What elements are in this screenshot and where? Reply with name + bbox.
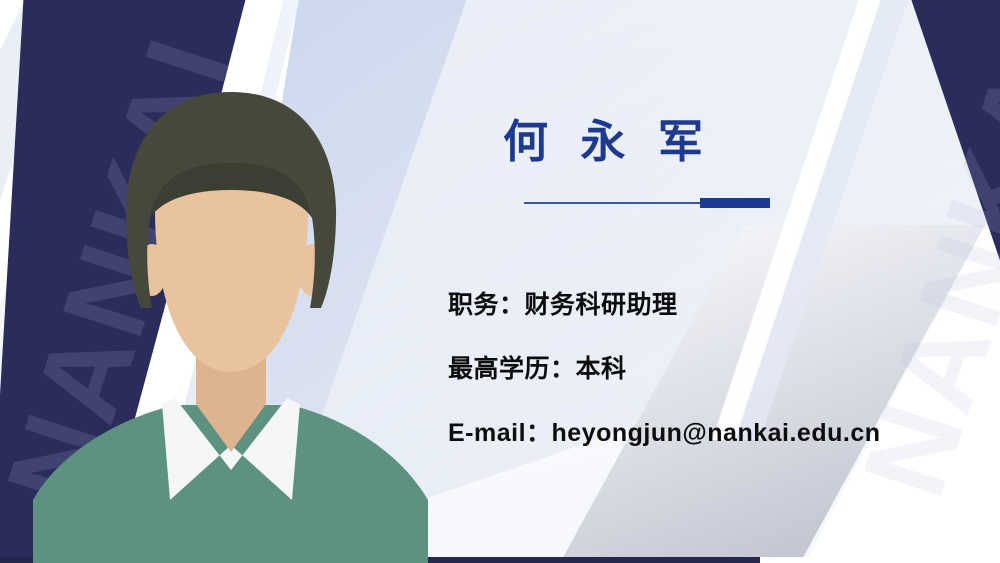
- detail-email: E-mail：heyongjun@nankai.edu.cn: [448, 413, 881, 449]
- detail-position: 职务：财务科研助理: [448, 285, 881, 321]
- avatar: [0, 0, 460, 563]
- bottom-strip-gap-right: [760, 557, 1000, 563]
- divider-thick-bar: [700, 198, 770, 208]
- profile-slide: NANKAI NANKAI 何 永 军: [0, 0, 1000, 563]
- name-block: 何 永 军: [448, 118, 948, 165]
- divider-thin-line: [524, 202, 702, 204]
- detail-education: 最高学历：本科: [448, 349, 881, 385]
- details-block: 职务：财务科研助理 最高学历：本科 E-mail：heyongjun@nanka…: [448, 285, 881, 449]
- page-title: 何 永 军: [448, 118, 948, 165]
- name-divider: [524, 198, 770, 208]
